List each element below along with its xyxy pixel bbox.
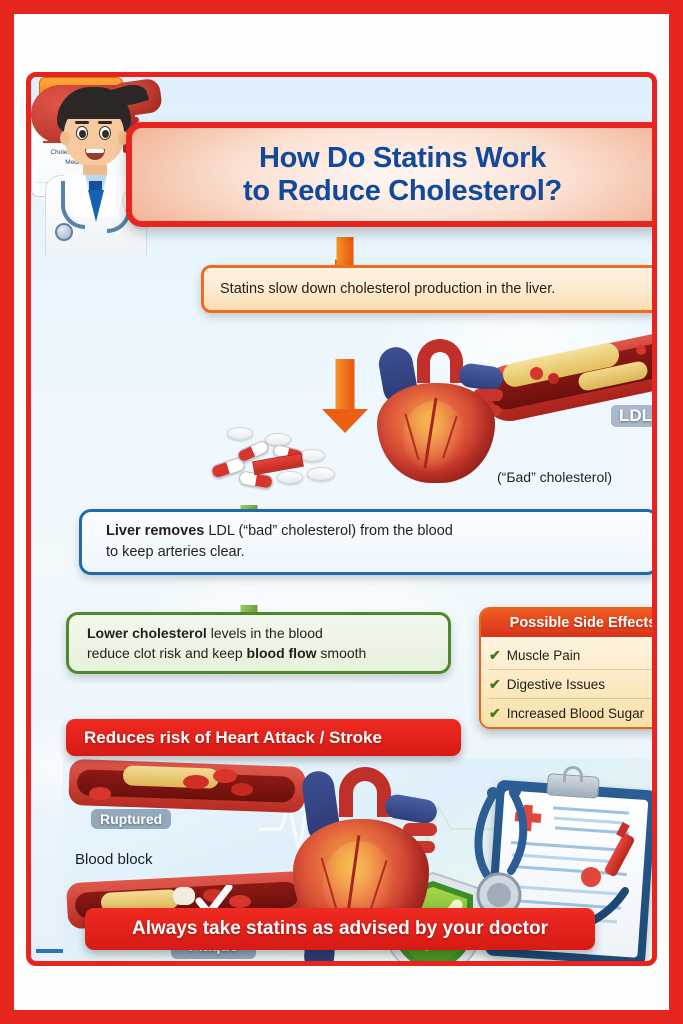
always-take-banner: Always take statins as advised by your d…: [85, 908, 595, 950]
list-item: ✔ Muscle Pain: [489, 641, 657, 670]
side-effects-list: ✔ Muscle Pain ✔ Digestive Issues ✔ Incre…: [481, 637, 657, 729]
callout-step1-text: Statins slow down cholesterol production…: [220, 281, 555, 297]
inner-panel: How Do Statins Work to Reduce Cholestero…: [26, 72, 657, 966]
check-icon: ✔: [489, 705, 501, 722]
callout-step3-line-1: Lower cholesterol levels in the blood: [87, 623, 448, 643]
heart-illustration: [363, 339, 513, 489]
list-item: ✔ Increased Blood Sugar: [489, 699, 657, 728]
check-icon: ✔: [489, 676, 501, 693]
blood-block-label: Blood block: [75, 851, 153, 868]
callout-step3-line2b: smooth: [317, 645, 367, 661]
reduces-risk-banner: Reduces risk of Heart Attack / Stroke: [66, 719, 461, 756]
side-effect-label: Digestive Issues: [507, 677, 605, 692]
ldl-tag: LDL: [611, 405, 657, 427]
page-title: How Do Statins Work to Reduce Cholestero…: [126, 122, 657, 227]
callout-step3-mid: levels in the blood: [207, 625, 323, 641]
arrow-to-step2: [322, 359, 368, 433]
callout-step2-bold: Liver removes: [106, 523, 204, 539]
bad-cholesterol-label: (“Бad” cholesterol): [497, 469, 612, 485]
callout-step3-bold-1: Lower cholesterol: [87, 625, 207, 641]
infographic-poster: How Do Statins Work to Reduce Cholestero…: [0, 0, 683, 1024]
callout-step1: Statins slow down cholesterol production…: [201, 265, 657, 313]
callout-step2: Liver removes LDL (“bad” cholesterol) fr…: [79, 509, 657, 575]
callout-step2-line-1: Liver removes LDL (“bad” cholesterol) fr…: [106, 521, 656, 542]
title-line-2: to Reduce Cholesterol?: [243, 175, 562, 208]
list-item: ✔ Digestive Issues: [489, 670, 657, 699]
callout-step2-rest: LDL (“bad” cholesterol) from the blood: [204, 523, 453, 539]
ruptured-tag-upper: Ruptured: [91, 809, 171, 829]
side-effect-label: Muscle Pain: [507, 648, 581, 663]
callout-step3: Lower cholesterol levels in the blood re…: [66, 612, 451, 674]
side-effect-label: Increased Blood Sugar: [507, 706, 644, 721]
callout-step3-line2a: reduce clot risk and keep: [87, 645, 247, 661]
callout-step2-line-2: to keep arteries clear.: [106, 542, 656, 563]
title-line-1: How Do Statins Work: [259, 142, 546, 175]
side-effects-card: Possible Side Effects ✔ Muscle Pain ✔ Di…: [479, 607, 657, 729]
check-icon: ✔: [489, 647, 501, 664]
pills-group: [181, 427, 346, 491]
callout-step3-bold-2: blood flow: [247, 645, 317, 661]
callout-step3-line-2: reduce clot risk and keep blood flow smo…: [87, 643, 448, 663]
side-effects-heading: Possible Side Effects: [481, 609, 657, 637]
